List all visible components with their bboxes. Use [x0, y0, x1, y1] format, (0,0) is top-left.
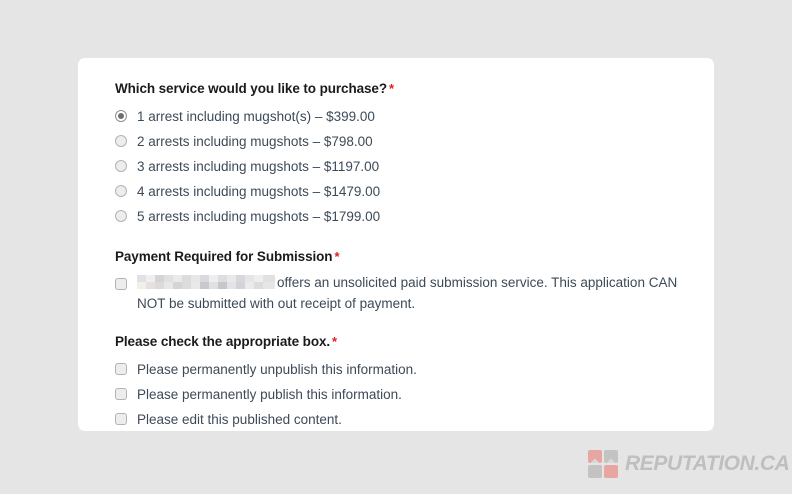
redacted-company-name — [137, 275, 275, 289]
required-asterisk: * — [387, 81, 394, 96]
reputation-logo-icon — [588, 450, 618, 478]
form-card: Which service would you like to purchase… — [78, 58, 714, 431]
radio-icon-selected[interactable] — [115, 110, 127, 122]
checkbox-option-row[interactable]: Please permanently unpublish this inform… — [115, 357, 714, 382]
reputation-watermark: REPUTATION.CA — [588, 450, 789, 478]
radio-option-label: 5 arrests including mugshots – $1799.00 — [127, 204, 380, 229]
checkbox-icon[interactable] — [115, 278, 127, 290]
radio-option-label: 1 arrest including mugshot(s) – $399.00 — [127, 104, 375, 129]
radio-icon[interactable] — [115, 135, 127, 147]
radio-option-label: 4 arrests including mugshots – $1479.00 — [127, 179, 380, 204]
section-service-heading: Which service would you like to purchase… — [115, 80, 714, 97]
radio-option-row[interactable]: 2 arrests including mugshots – $798.00 — [115, 129, 714, 154]
appropriate-box-option-list: Please permanently unpublish this inform… — [115, 357, 714, 432]
required-asterisk: * — [330, 334, 337, 349]
section-appropriate-box-heading: Please check the appropriate box.* — [115, 333, 714, 350]
checkbox-option-row[interactable]: Please edit this published content. — [115, 407, 714, 432]
form-card-inner: Which service would you like to purchase… — [78, 58, 714, 432]
spacer — [115, 265, 714, 272]
checkbox-icon[interactable] — [115, 413, 127, 425]
radio-icon[interactable] — [115, 185, 127, 197]
checkbox-option-label: Please permanently publish this informat… — [127, 382, 402, 407]
section-appropriate-box: Please check the appropriate box.* Pleas… — [115, 333, 714, 432]
checkbox-icon[interactable] — [115, 363, 127, 375]
radio-icon[interactable] — [115, 160, 127, 172]
radio-option-row[interactable]: 4 arrests including mugshots – $1479.00 — [115, 179, 714, 204]
checkbox-option-label: Please edit this published content. — [127, 407, 342, 432]
reputation-logo-text: REPUTATION.CA — [618, 450, 789, 478]
service-option-list: 1 arrest including mugshot(s) – $399.00 … — [115, 104, 714, 229]
radio-icon[interactable] — [115, 210, 127, 222]
radio-option-row[interactable]: 5 arrests including mugshots – $1799.00 — [115, 204, 714, 229]
checkbox-icon[interactable] — [115, 388, 127, 400]
spacer — [115, 350, 714, 357]
section-payment: Payment Required for Submission* offers … — [115, 248, 714, 314]
section-payment-heading: Payment Required for Submission* — [115, 248, 714, 265]
radio-option-row[interactable]: 1 arrest including mugshot(s) – $399.00 — [115, 104, 714, 129]
payment-statement: offers an unsolicited paid submission se… — [127, 272, 689, 314]
section-service-heading-text: Which service would you like to purchase… — [115, 81, 387, 96]
checkbox-option-label: Please permanently unpublish this inform… — [127, 357, 417, 382]
section-service: Which service would you like to purchase… — [115, 80, 714, 229]
radio-option-row[interactable]: 3 arrests including mugshots – $1197.00 — [115, 154, 714, 179]
required-asterisk: * — [332, 249, 339, 264]
payment-checkbox-row[interactable]: offers an unsolicited paid submission se… — [115, 272, 714, 314]
checkbox-option-row[interactable]: Please permanently publish this informat… — [115, 382, 714, 407]
section-payment-heading-text: Payment Required for Submission — [115, 249, 332, 264]
radio-option-label: 2 arrests including mugshots – $798.00 — [127, 129, 373, 154]
spacer — [115, 97, 714, 104]
radio-option-label: 3 arrests including mugshots – $1197.00 — [127, 154, 379, 179]
section-appropriate-box-heading-text: Please check the appropriate box. — [115, 334, 330, 349]
